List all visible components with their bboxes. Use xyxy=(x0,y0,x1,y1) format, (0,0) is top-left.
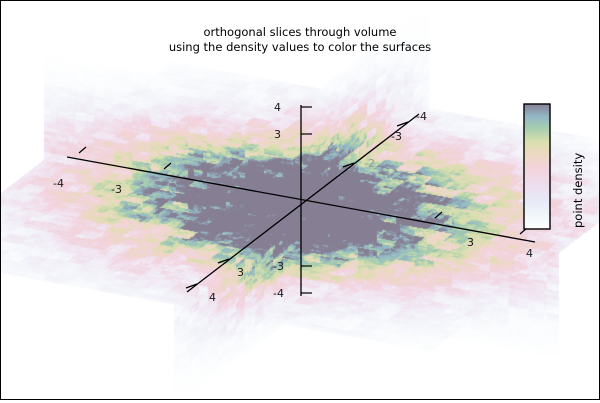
colorbar xyxy=(524,104,550,229)
y-tick-label-pos3: 3 xyxy=(237,266,244,279)
y-tick-label-pos4: 4 xyxy=(209,291,216,304)
y-axis: 4 3 -2 -3 -4 xyxy=(186,110,427,304)
x-tick-label-neg3: -3 xyxy=(111,183,122,196)
z-tick-label-pos3: 3 xyxy=(274,128,281,141)
colorbar-gradient xyxy=(524,104,550,229)
x-tick-label-pos3: 3 xyxy=(467,236,474,249)
z-tick-label-neg4: -4 xyxy=(273,287,284,300)
z-tick-label-neg3: -3 xyxy=(273,260,284,273)
axes-overlay: -4 -3 3 4 4 3 -2 -3 -4 4 3 -3 xyxy=(1,1,599,399)
x-tick-label-pos4: 4 xyxy=(526,247,533,260)
colorbar-label: point density xyxy=(571,153,585,228)
x-tick-label-neg4: -4 xyxy=(53,177,64,190)
y-tick-label-neg2: -2 xyxy=(364,157,375,170)
y-tick-label-neg4: -4 xyxy=(416,110,427,123)
x-axis: -4 -3 3 4 xyxy=(53,147,535,260)
figure-canvas: orthogonal slices through volume using t… xyxy=(0,0,600,400)
z-tick-label-pos4: 4 xyxy=(274,101,281,114)
y-tick-label-neg3: -3 xyxy=(391,130,402,143)
